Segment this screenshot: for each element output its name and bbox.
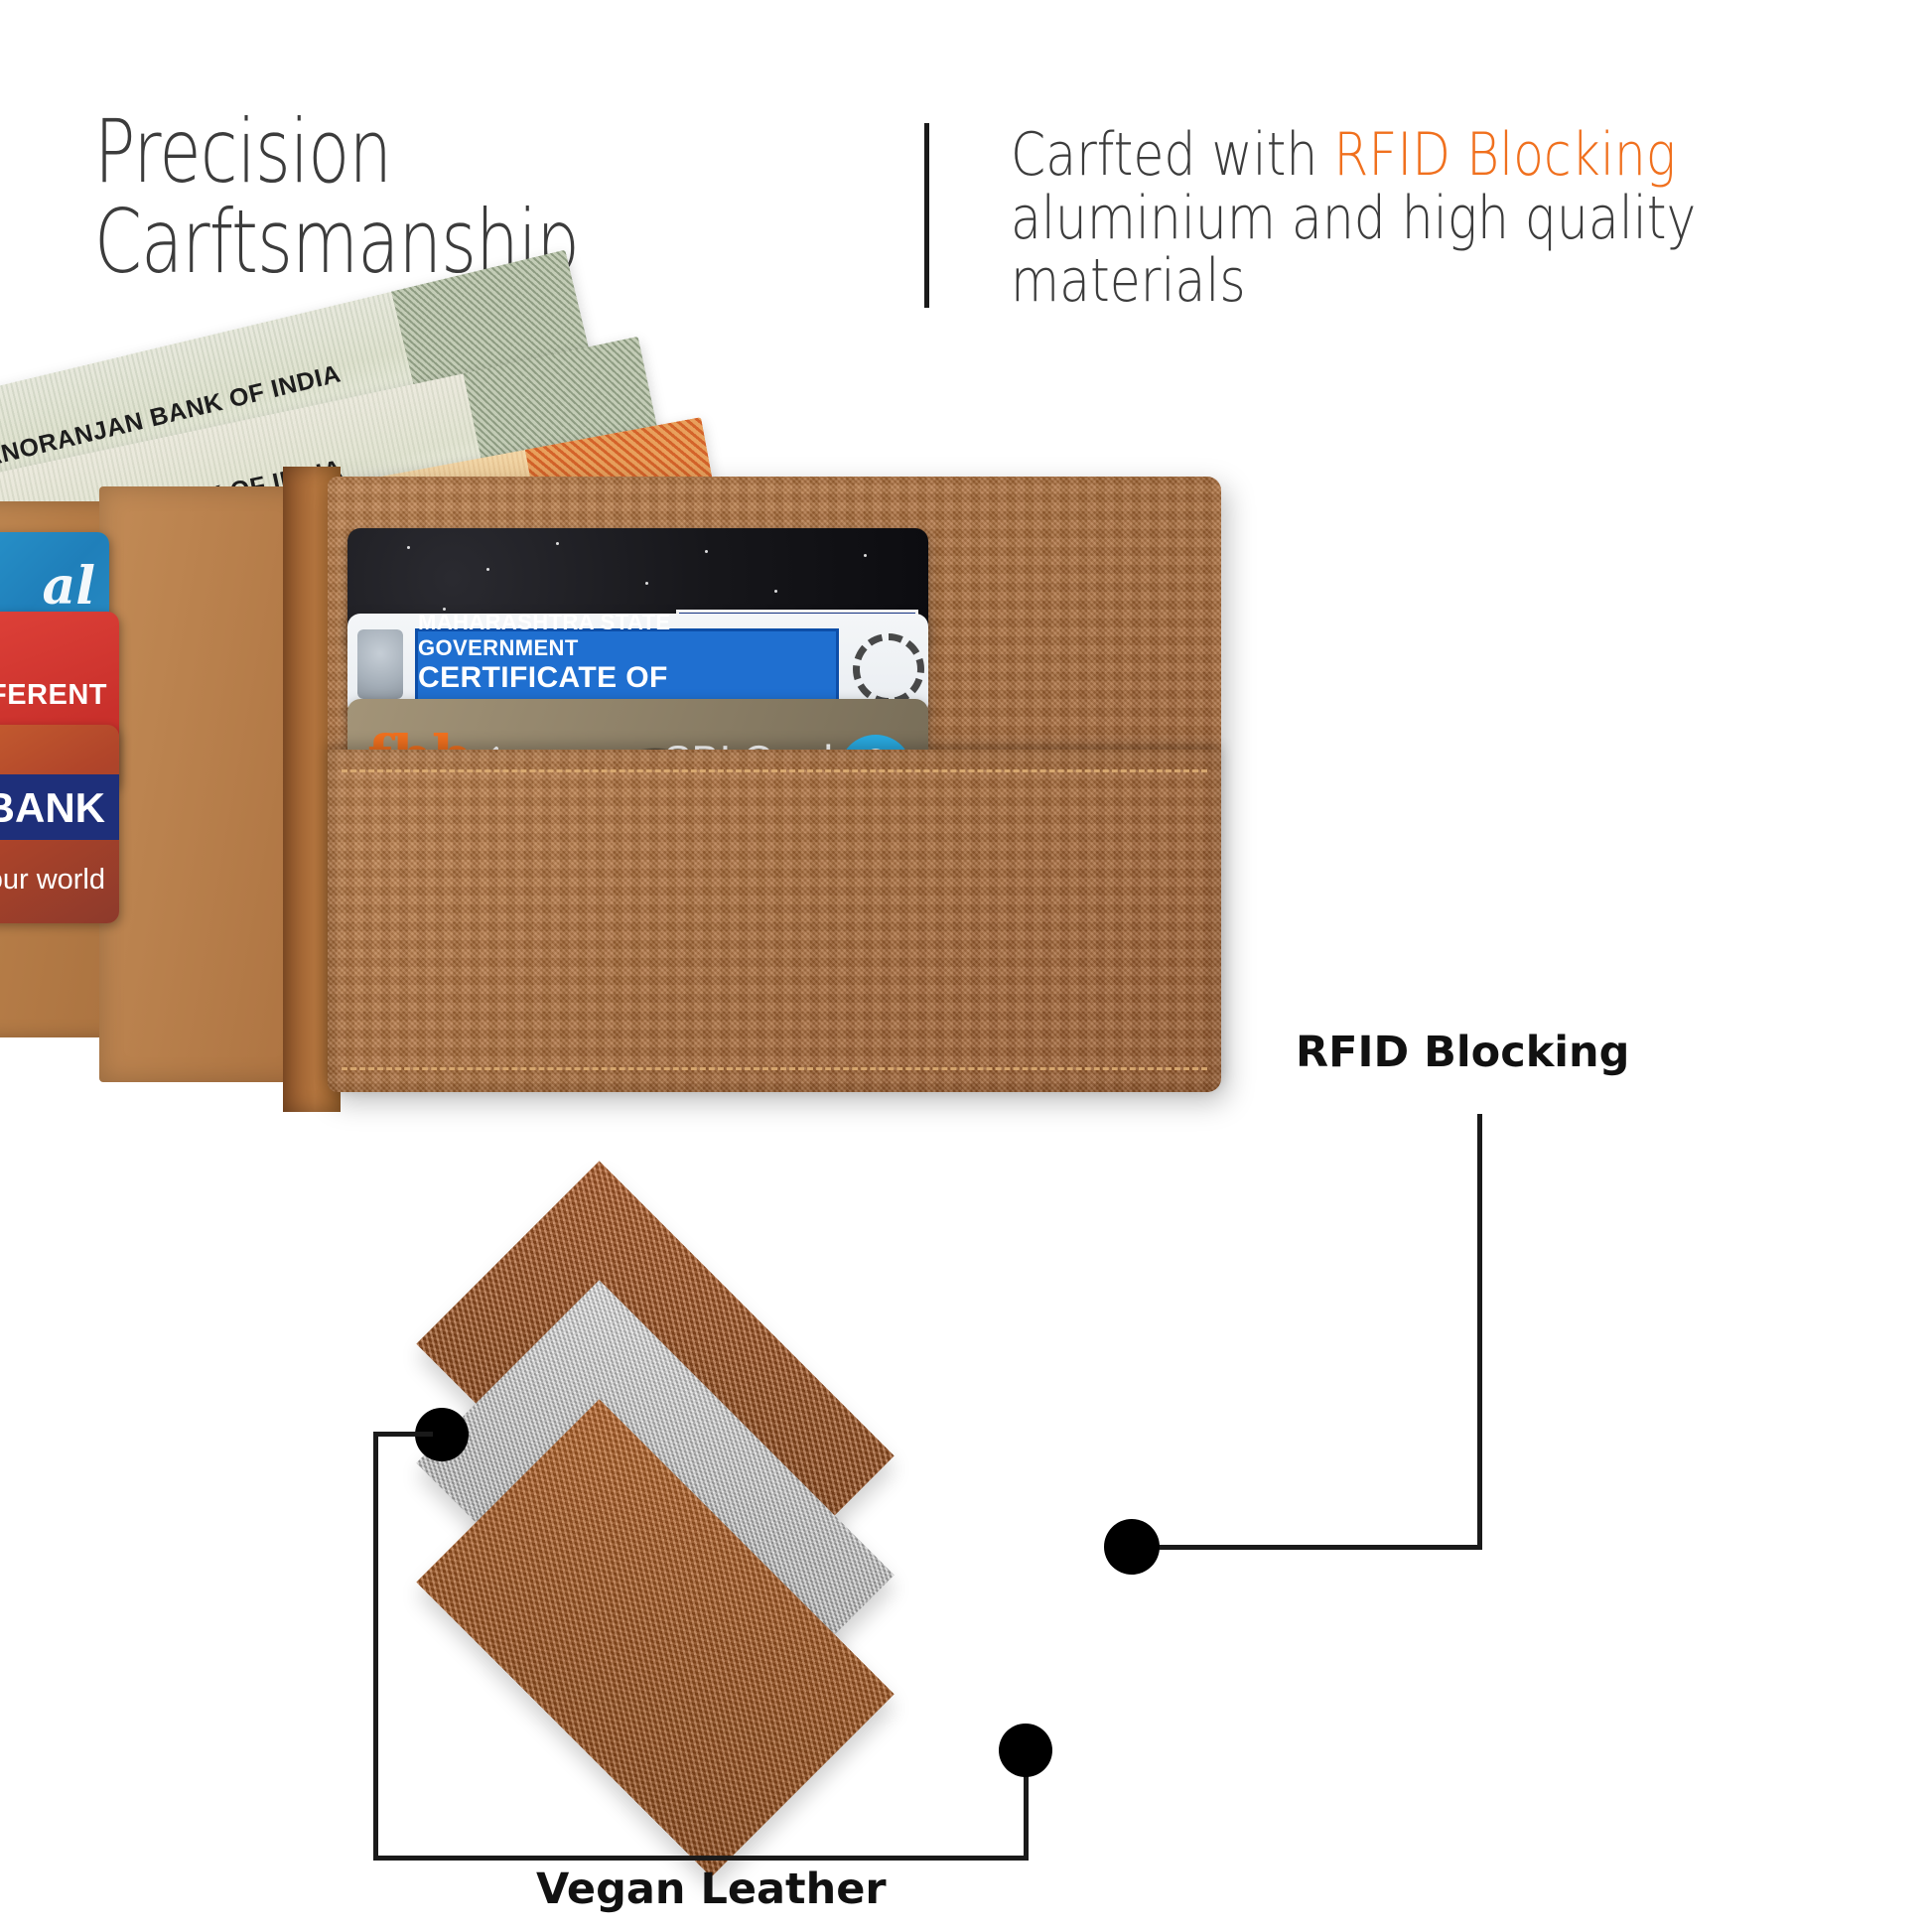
subtitle-prefix: Carfted with [1011, 120, 1333, 190]
callout-label-vegan-leather: Vegan Leather [536, 1864, 887, 1914]
left-card-bank-name: BANK [0, 784, 105, 832]
state-emblem-icon [357, 629, 403, 699]
rc-line-1: MAHARASHTRA STATE GOVERNMENT [418, 614, 836, 661]
callout-line-vegan-bottom [373, 1856, 1029, 1861]
stitch-line [342, 769, 1207, 772]
wallet-card-pocket [328, 750, 1221, 1092]
callout-line-rfid-vertical [1477, 1114, 1482, 1549]
subtitle-suffix: aluminium and high quality materials [1011, 184, 1696, 317]
callout-dot-rfid [1104, 1519, 1160, 1575]
header-divider [924, 123, 929, 308]
left-card-blue-text: al [43, 556, 95, 617]
callout-dot-vegan-bottom [999, 1724, 1052, 1777]
page-title-line-1: Precision [94, 107, 730, 198]
page-title: Precision Carftsmanship [94, 107, 730, 287]
left-card-bank: BANK your world [0, 725, 119, 923]
material-layers-diagram [298, 1320, 1191, 1876]
rc-blue-banner: MAHARASHTRA STATE GOVERNMENT CERTIFICATE… [415, 628, 839, 710]
stitch-line [342, 1067, 1207, 1070]
page-title-line-2: Carftsmanship [94, 198, 730, 288]
left-card-red-text: DIFFERENT [0, 679, 107, 712]
wallet-product-image: MANORANJAN BANK OF INDIA MANORANJAN BANK… [0, 298, 1291, 1330]
left-card-bank-tagline: your world [0, 864, 105, 897]
callout-line-vegan-top [373, 1432, 433, 1437]
subtitle-highlight: RFID Blocking [1333, 120, 1676, 190]
header: Precision Carftsmanship Carfted with RFI… [0, 0, 1932, 328]
callout-line-rfid-horizontal [1140, 1545, 1482, 1550]
wallet-left-inner-pocket [99, 486, 308, 1082]
callout-label-rfid-blocking: RFID Blocking [1296, 1028, 1629, 1077]
callout-line-vegan-vertical [373, 1432, 378, 1861]
header-subtitle: Carfted with RFID Blocking aluminium and… [1011, 124, 1761, 314]
gear-icon [853, 633, 924, 705]
